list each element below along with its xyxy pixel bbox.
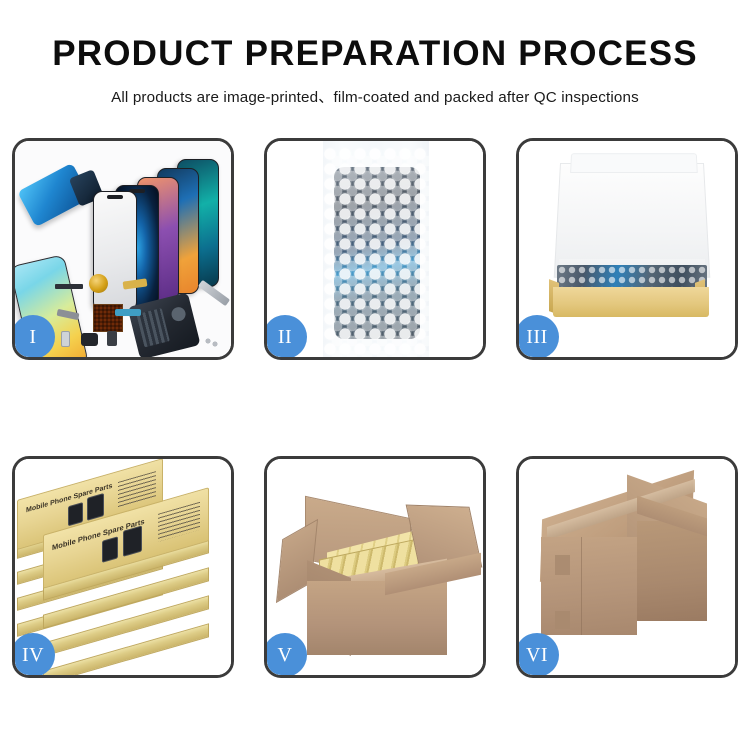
carton-seam [581,537,582,635]
step-panel-2: II [264,138,486,360]
notch-icon [107,195,123,199]
tape-tab-lower [555,611,570,629]
box-spec-lines [118,471,156,508]
battery-connector-icon [107,331,117,346]
flex-cable-blue-icon [115,309,141,316]
carton-front-panel [307,581,447,655]
step-panel-3: III [516,138,738,360]
mailer-box-front-panel [553,287,709,317]
bubble-wrap-texture-front [323,147,429,357]
header: PRODUCT PREPARATION PROCESS All products… [0,0,750,107]
phone-screen-glass-icon [93,191,137,311]
step-panel-6: VI [516,456,738,678]
vibration-coil-icon [89,274,108,293]
step-panel-1: I [12,138,234,360]
process-steps-grid: I II III [12,138,738,678]
box-spec-lines [158,502,200,542]
step-badge-3: III [516,315,559,359]
camera-module-icon [61,331,70,347]
step-badge-6: VI [516,633,559,677]
step-badge-4: IV [12,633,55,677]
box-phone-graphic [87,493,104,521]
step-panel-4: Mobile Phone Spare Parts Mobile Phone Sp… [12,456,234,678]
screws-icon [205,337,221,347]
product-preparation-infographic: PRODUCT PREPARATION PROCESS All products… [0,0,750,750]
step-badge-5: V [264,633,307,677]
step-badge-2: II [264,315,307,359]
page-title: PRODUCT PREPARATION PROCESS [0,36,750,73]
box-phone-graphic [68,502,83,526]
earpiece-mesh-icon [55,284,83,289]
box-phone-graphic [102,536,118,563]
box-phone-graphic [123,525,142,556]
tape-tab-upper [555,555,570,575]
step-panel-5: V [264,456,486,678]
speaker-module-icon [81,333,98,346]
page-subtitle: All products are image-printed、film-coat… [0,85,750,107]
step-badge-1: I [12,315,55,359]
bubble-wrapped-contents [557,265,707,289]
sealed-carton-side [637,521,707,621]
